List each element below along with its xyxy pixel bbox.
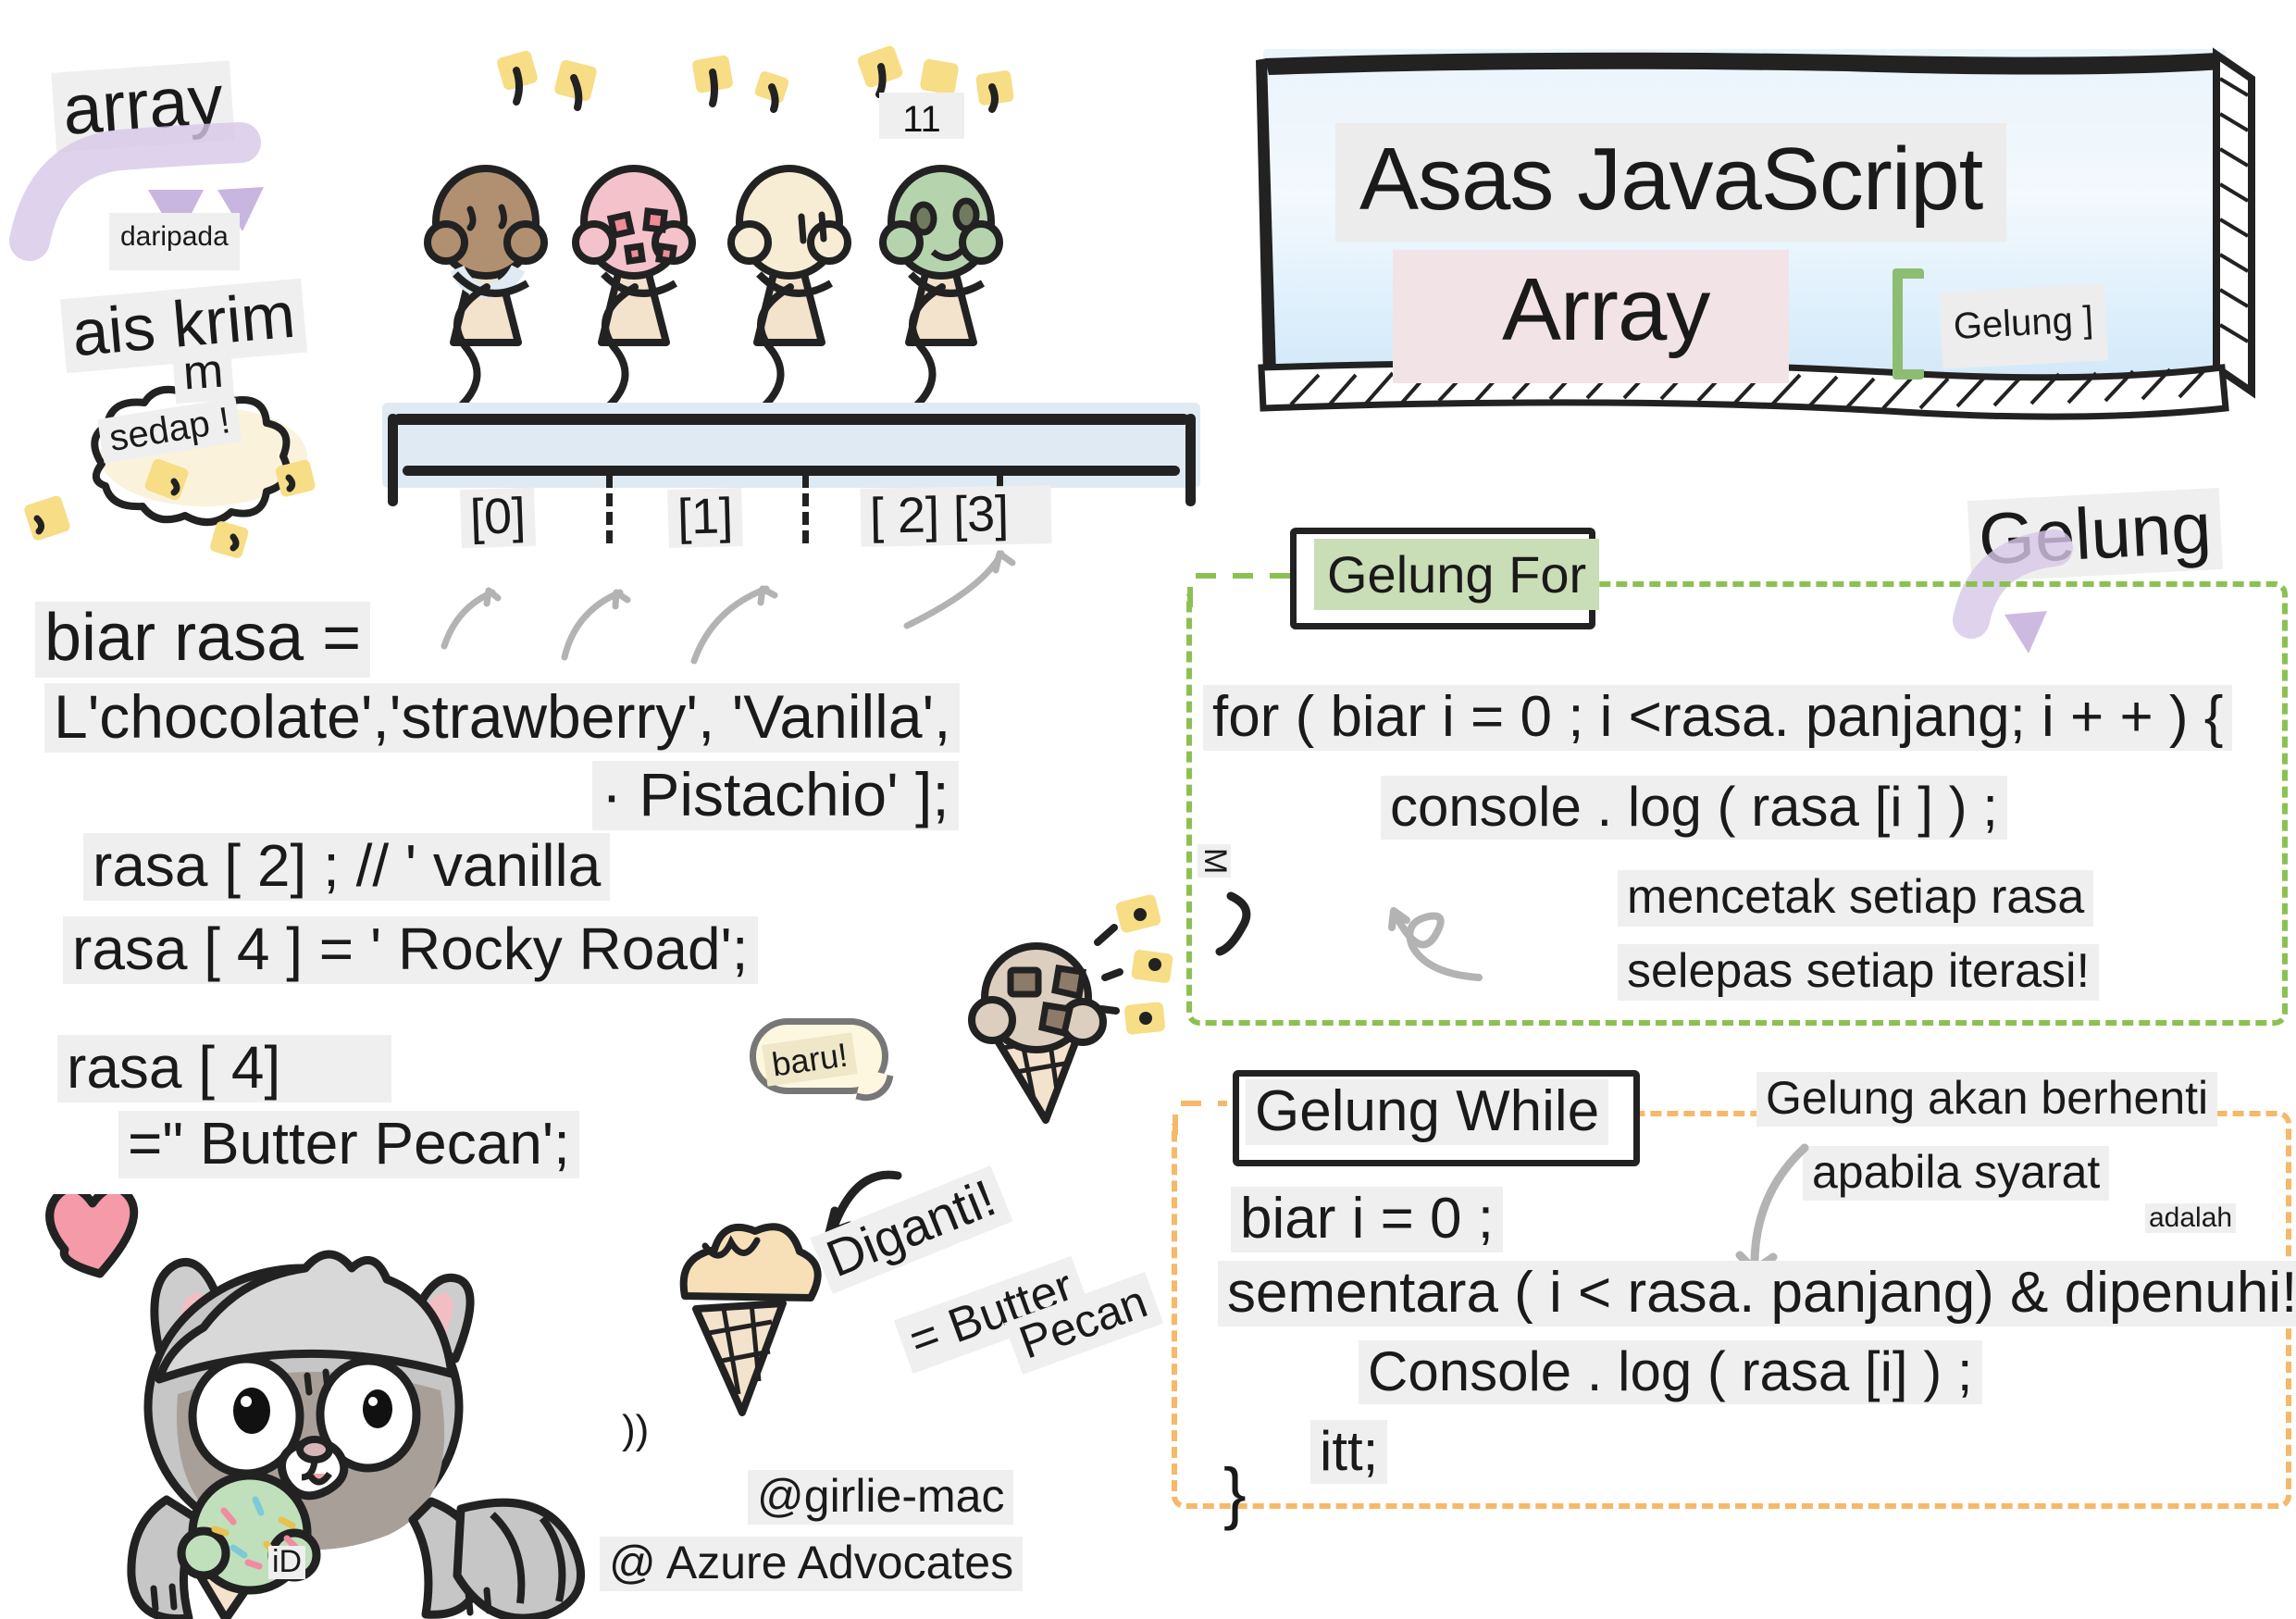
shelf-divider-1 — [606, 475, 613, 543]
ice-cream-row: 11 — [398, 37, 1101, 426]
while-loop-line-4: itt; — [1310, 1420, 1387, 1484]
for-annotation-line-1: mencetak setiap rasa — [1618, 870, 2093, 927]
array-index-1: [1] — [667, 488, 743, 548]
while-loop-line-3: Console . log ( rasa [i] ) ; — [1359, 1340, 1982, 1404]
array-index-0: [0] — [460, 488, 536, 548]
code-line-access: rasa [ 2] ; // ' vanilla — [83, 833, 610, 901]
while-closing-brace: } — [1223, 1453, 1247, 1532]
speech-bubble-tail — [855, 1068, 893, 1106]
bubble-text-m: m — [172, 343, 234, 404]
poster-title-line1: Asas JavaScript — [1335, 123, 2006, 242]
shelf-leg-left — [388, 414, 398, 506]
for-annotation-line-2: selepas setiap iterasi! — [1618, 944, 2099, 1001]
credit-org[interactable]: @ Azure Advocates — [600, 1537, 1023, 1591]
shelf-leg-right — [1185, 414, 1196, 506]
ice-cream-cones-illustration: 11 — [398, 37, 1101, 426]
while-note-line-1: Gelung akan berhenti — [1756, 1072, 2217, 1127]
annotation-arrow-for — [1360, 861, 1545, 1000]
sketchnote-canvas: Asas JavaScript Array Gelung ] array dar… — [0, 0, 2296, 1619]
while-loop-line-1: biar i = 0 ; — [1231, 1187, 1503, 1252]
for-loop-line-1: for ( biar i = 0 ; i <rasa. panjang; i +… — [1203, 685, 2232, 751]
poster-title-line2: Array — [1393, 250, 1789, 383]
butter-pecan-cone-icon — [648, 1194, 851, 1426]
for-loop-side-mark: M — [1198, 844, 1231, 878]
label-brace-marks: )) — [622, 1407, 649, 1453]
heart-icon — [50, 1194, 134, 1274]
badge-gelung-while: Gelung While — [1246, 1079, 1608, 1145]
title-whiteboard: Asas JavaScript Array Gelung ] — [1254, 42, 2263, 435]
code-line-rasa4: rasa [ 4] — [57, 1035, 391, 1102]
credit-handle[interactable]: @girlie-mac — [748, 1470, 1013, 1525]
shelf-divider-2 — [802, 475, 809, 543]
sprinkle-decor-left — [0, 444, 389, 565]
for-loop-line-2: console . log ( rasa [i ] ) ; — [1381, 776, 2007, 840]
rocky-road-cone-icon — [907, 889, 1185, 1148]
label-raccoon-mark: iD — [268, 1546, 305, 1579]
shelf-bottom-rail — [403, 466, 1180, 476]
badge-gelung-for: Gelung For — [1314, 539, 1599, 610]
code-line-array-items: L'chocolate','strawberry', 'Vanilla', — [44, 683, 960, 753]
closing-brace-for-icon — [1214, 889, 1279, 963]
code-line-butter-pecan: =" Butter Pecan'; — [118, 1111, 579, 1178]
array-index-2-3: [ 2] [3] — [860, 485, 1051, 546]
svg-text:11: 11 — [902, 99, 941, 140]
green-bracket-icon — [1893, 268, 1924, 380]
code-line-declaration: biar rasa = — [35, 602, 370, 678]
poster-title-tag: Gelung ] — [1939, 283, 2108, 368]
code-line-assign-rocky: rasa [ 4 ] = ' Rocky Road'; — [63, 916, 758, 984]
shelf-top-rail — [393, 414, 1189, 425]
while-note-line-3: adalah — [2145, 1203, 2236, 1233]
while-loop-line-2: sementara ( i < rasa. panjang) & dipenuh… — [1218, 1261, 2296, 1326]
code-line-pistachio: · Pistachio' ]; — [592, 761, 959, 830]
label-daripada: daripada — [109, 213, 240, 270]
